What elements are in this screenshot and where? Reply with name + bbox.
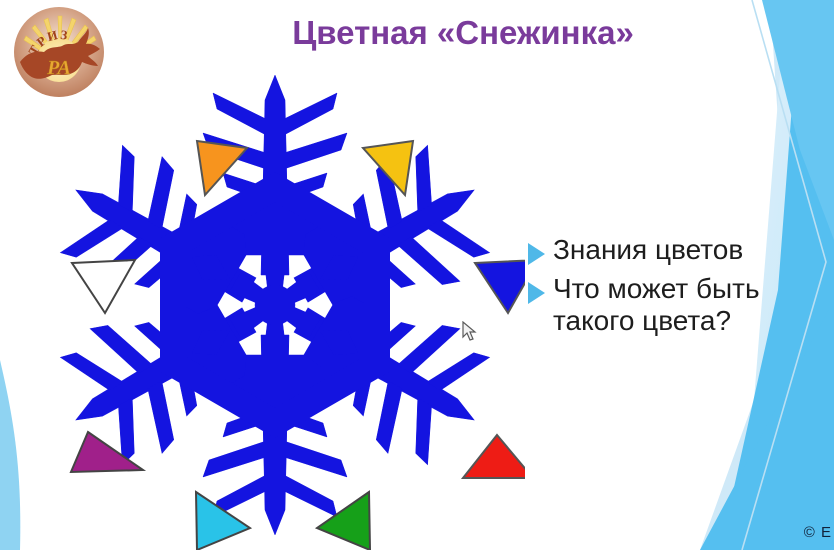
copyright-notice: © E — [804, 524, 834, 541]
list-item: Что может быть такого цвета? — [528, 273, 818, 336]
bg-wedge-right-top — [762, 0, 834, 240]
accent-white-triangle — [72, 260, 135, 313]
bg-sliver-left — [0, 360, 20, 550]
mouse-cursor — [462, 321, 478, 343]
accent-red-triangle — [463, 435, 525, 478]
accent-blue-triangle — [475, 260, 525, 313]
bullet-label: Знания цветов — [553, 234, 743, 265]
bullet-triangle-icon — [528, 282, 545, 304]
bullet-label: Что может быть такого цвета? — [553, 273, 818, 336]
bullet-triangle-icon — [528, 243, 545, 265]
slide-canvas: ТРИЗ РА Цветная «Снежинка» — [0, 0, 834, 550]
page-title: Цветная «Снежинка» — [248, 14, 678, 52]
colored-snowflake — [25, 60, 525, 550]
bullet-list: Знания цветов Что может быть такого цвет… — [528, 234, 818, 344]
list-item: Знания цветов — [528, 234, 818, 265]
